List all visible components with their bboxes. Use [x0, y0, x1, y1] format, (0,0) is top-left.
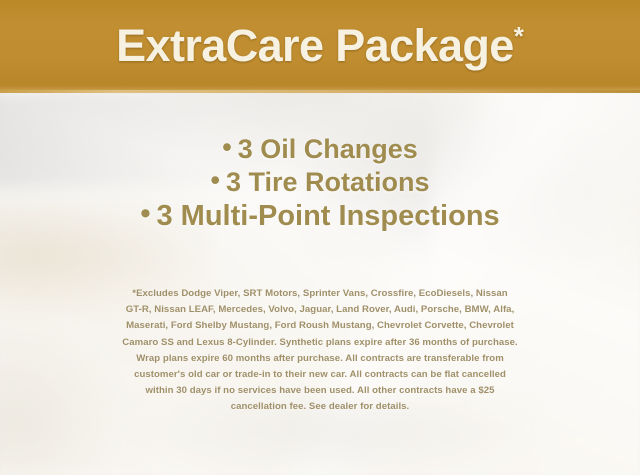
- extracare-package-ad: ExtraCare Package* •3 Oil Changes •3 Tir…: [0, 0, 640, 475]
- disclaimer-line: Camaro SS and Lexus 8-Cylinder. Syntheti…: [38, 335, 602, 351]
- header-banner: ExtraCare Package*: [0, 0, 640, 93]
- list-item-label: 3 Multi-Point Inspections: [156, 200, 499, 232]
- disclaimer-line: cancellation fee. See dealer for details…: [38, 399, 602, 415]
- list-item: •3 Oil Changes: [0, 133, 640, 166]
- page-title: ExtraCare Package*: [116, 23, 524, 70]
- banner-bottom-rule: [0, 90, 640, 93]
- disclaimer-line: *Excludes Dodge Viper, SRT Motors, Sprin…: [38, 286, 602, 302]
- bullet-icon: •: [222, 131, 231, 164]
- list-item-label: 3 Tire Rotations: [226, 167, 430, 197]
- bullet-icon: •: [140, 197, 150, 232]
- disclaimer-line: Wrap plans expire 60 months after purcha…: [38, 351, 602, 367]
- list-item: •3 Multi-Point Inspections: [0, 199, 640, 234]
- disclaimer-line: customer's old car or trade-in to their …: [38, 367, 602, 383]
- list-item: •3 Tire Rotations: [0, 166, 640, 199]
- page-title-text: ExtraCare Package: [116, 20, 514, 71]
- disclaimer-text: *Excludes Dodge Viper, SRT Motors, Sprin…: [38, 286, 602, 416]
- list-item-label: 3 Oil Changes: [238, 134, 418, 164]
- bullet-icon: •: [211, 164, 220, 197]
- disclaimer-line: GT-R, Nissan LEAF, Mercedes, Volvo, Jagu…: [38, 302, 602, 318]
- page-title-asterisk: *: [514, 21, 524, 51]
- disclaimer-line: within 30 days if no services have been …: [38, 383, 602, 399]
- benefits-list: •3 Oil Changes •3 Tire Rotations •3 Mult…: [0, 133, 640, 234]
- disclaimer-line: Maserati, Ford Shelby Mustang, Ford Rous…: [38, 318, 602, 334]
